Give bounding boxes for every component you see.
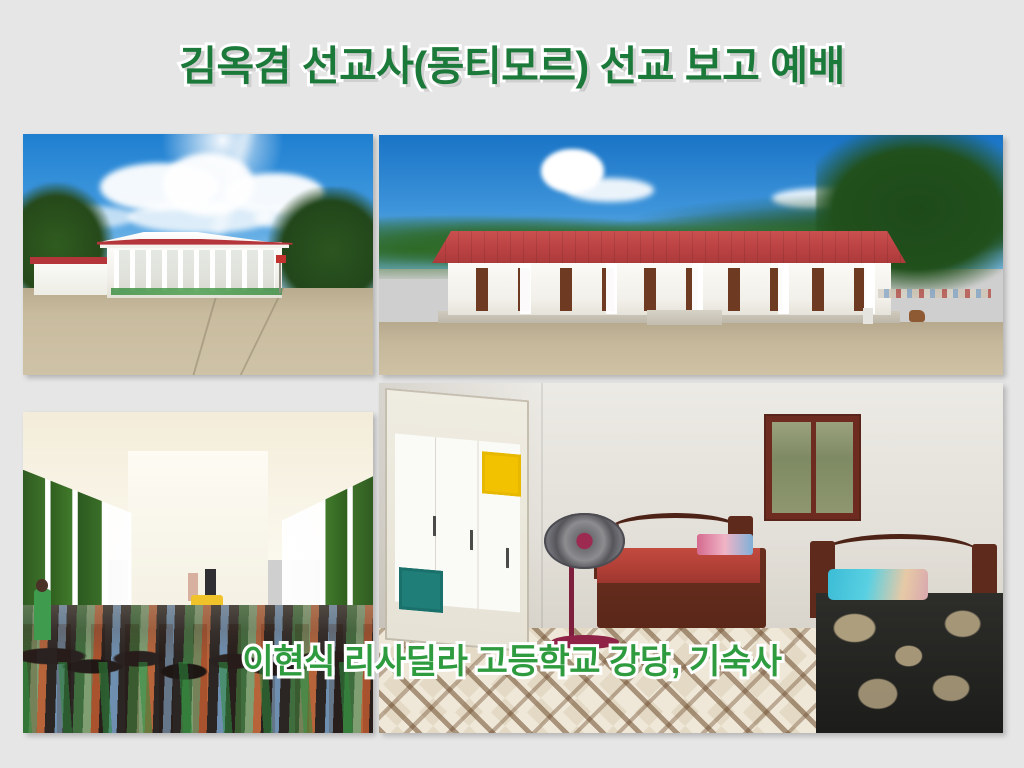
bed-headboard-arch xyxy=(822,534,978,571)
standing-fan-icon xyxy=(544,513,625,569)
plastic-chair xyxy=(863,308,873,324)
wall-corner xyxy=(541,383,543,635)
cubby-teal xyxy=(399,567,443,613)
standing-person-head xyxy=(36,579,48,592)
photo-scene xyxy=(23,412,373,733)
standing-person xyxy=(34,589,52,640)
cubby-yellow xyxy=(482,451,521,496)
ground-layer xyxy=(379,322,1003,375)
photo-school-exterior-wide xyxy=(23,134,373,375)
photo-assembly-hall xyxy=(23,412,373,733)
green-base-trim xyxy=(111,288,283,295)
photo-dormitory-front xyxy=(379,135,1003,375)
bed-right-pillow xyxy=(828,569,928,601)
presentation-slide: 김옥겸 선교사(동티모르) 선교 보고 예배 xyxy=(0,0,1024,768)
cloud-shape xyxy=(128,201,275,232)
veranda-pillars xyxy=(445,261,894,314)
window-mullion xyxy=(811,422,816,513)
roof-ribs xyxy=(432,231,906,263)
veranda-columns xyxy=(114,250,275,291)
entrance-steps xyxy=(647,310,722,324)
dog xyxy=(909,310,925,322)
flag-cloth xyxy=(276,255,286,263)
photo-caption: 이현식 리사딜라 고등학교 강당, 기숙사 xyxy=(0,643,1024,682)
bed-left-pillow xyxy=(697,534,753,555)
door-handle xyxy=(506,547,509,567)
back-wall xyxy=(128,451,268,618)
far-building xyxy=(34,262,118,296)
door-handle xyxy=(433,516,436,536)
door-handle xyxy=(470,530,473,550)
photo-scene xyxy=(379,135,1003,375)
photo-scene xyxy=(23,134,373,375)
laundry-line xyxy=(878,289,990,299)
page-title: 김옥겸 선교사(동티모르) 선교 보고 예배 xyxy=(0,44,1024,89)
